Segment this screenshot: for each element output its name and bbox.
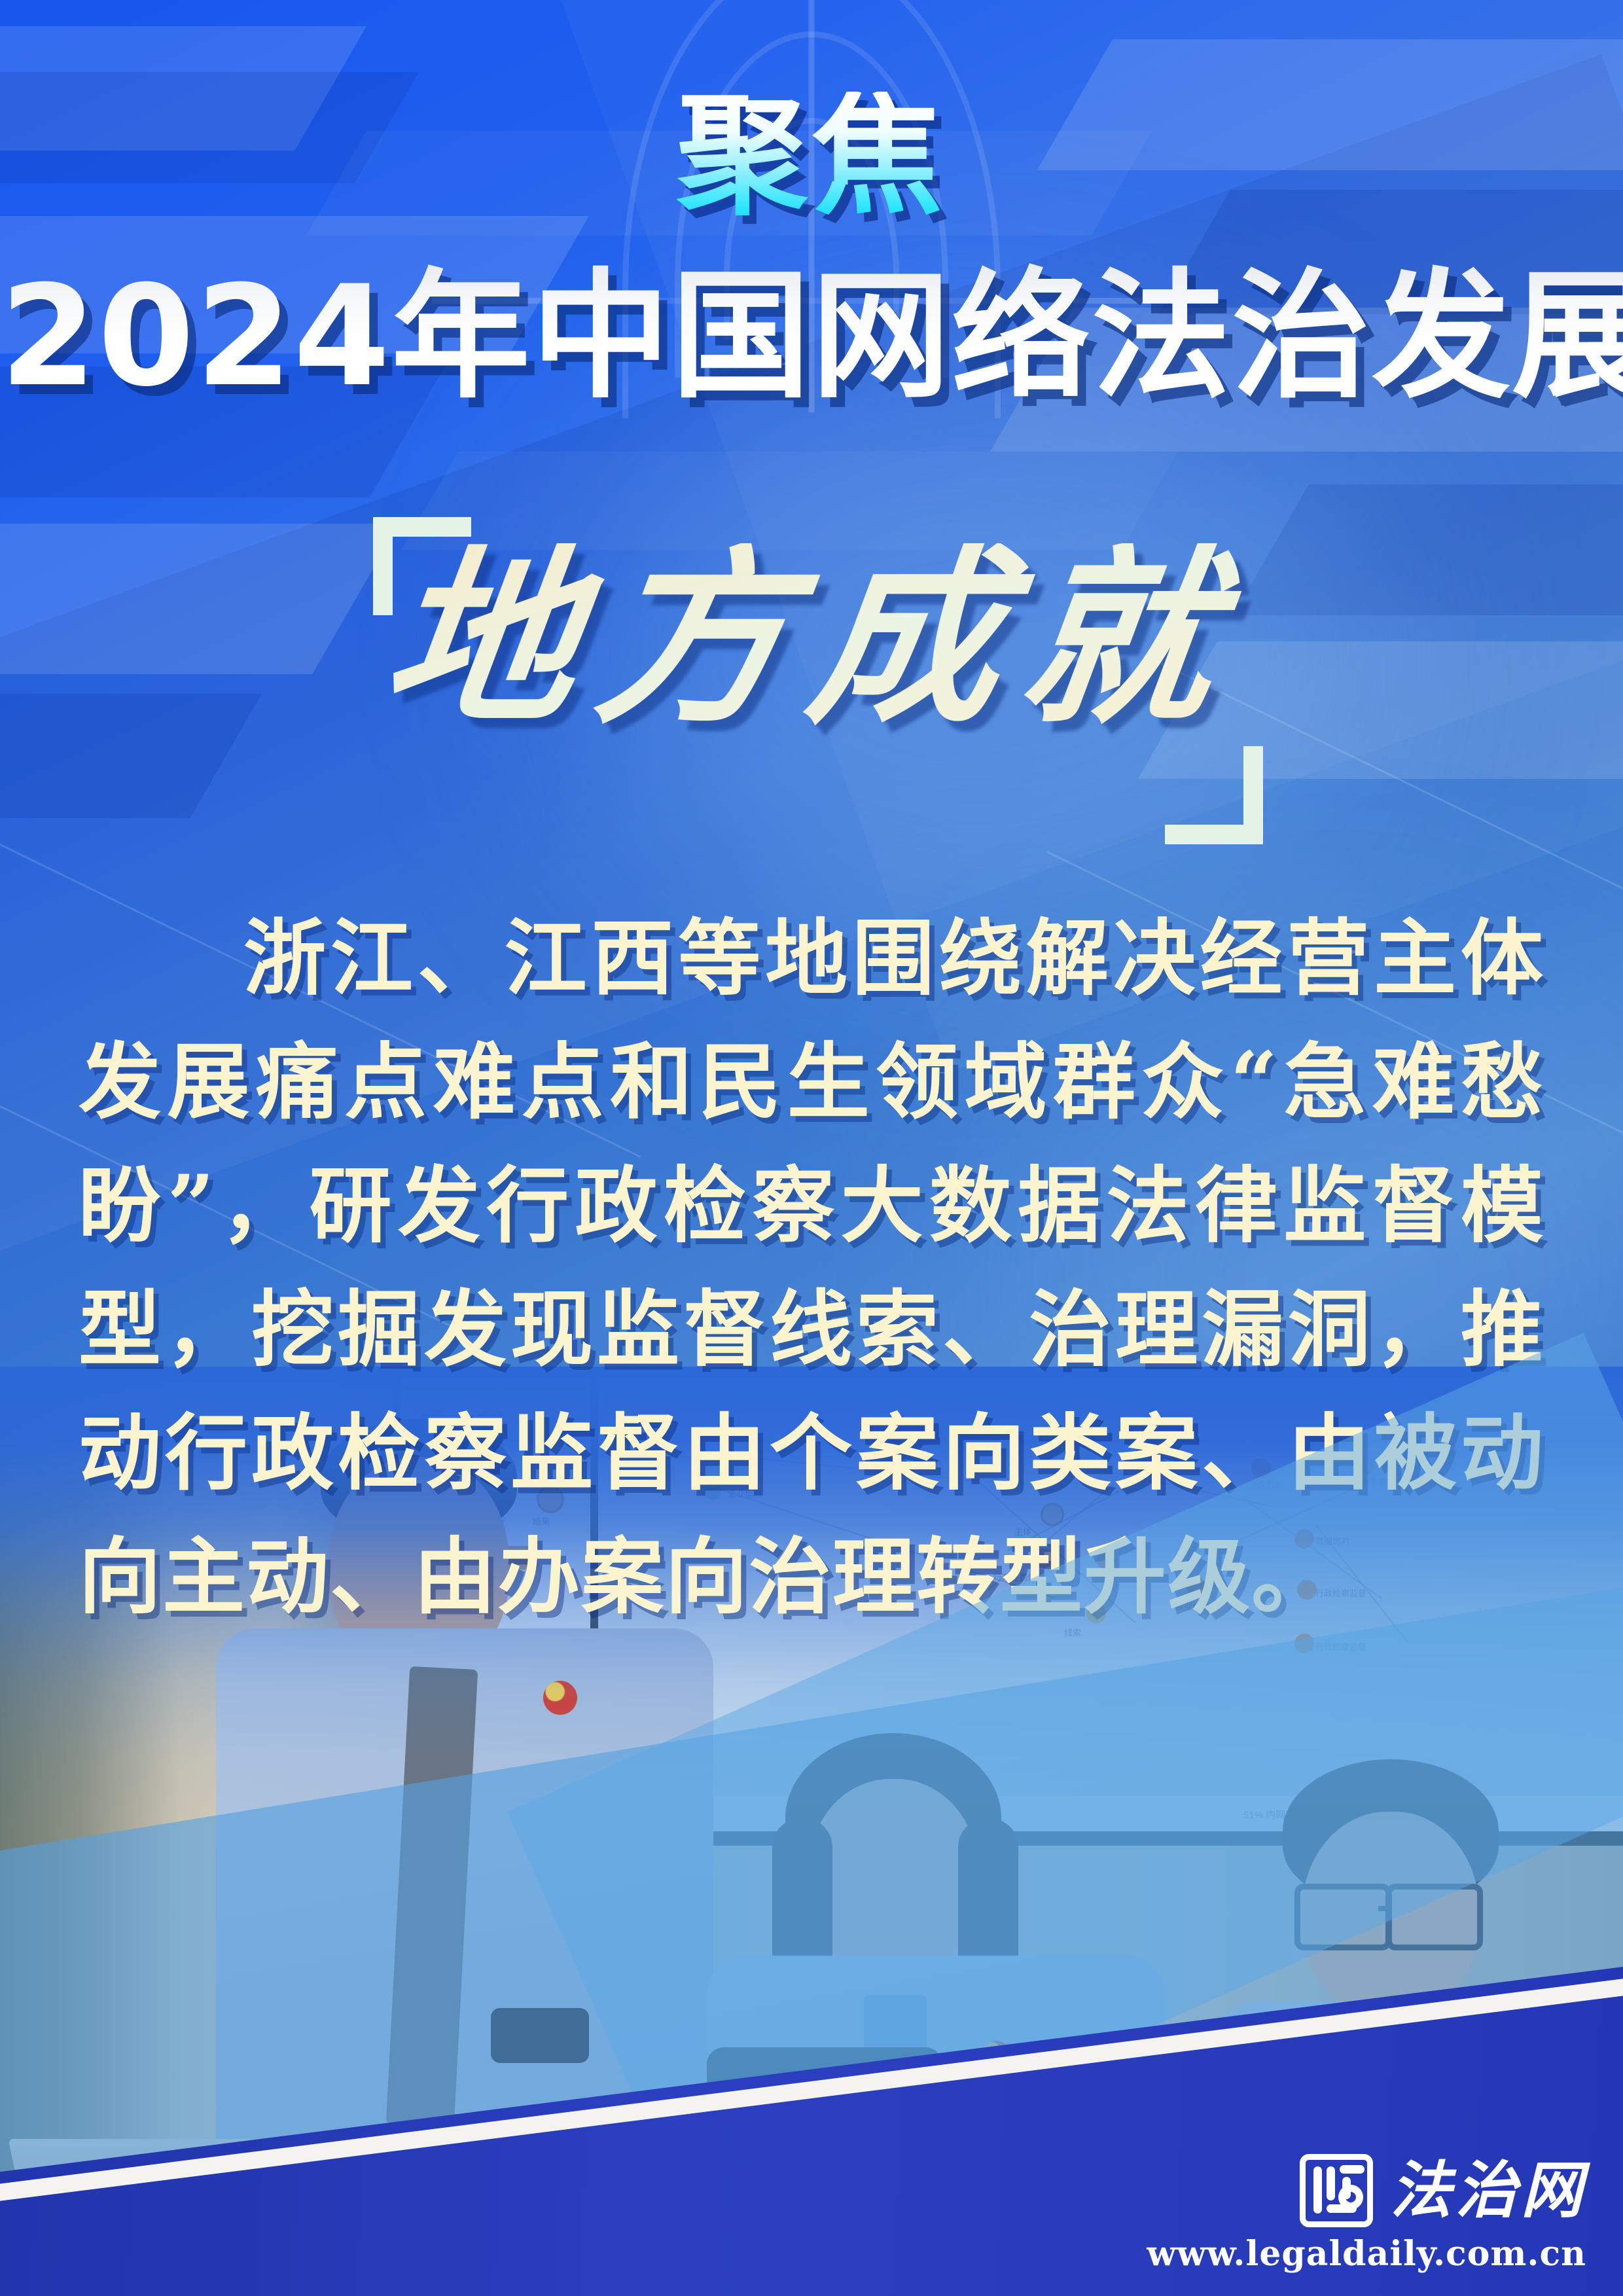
poster-root: 聚焦 2024年中国网络法治发展 地方成就 浙江、江西等地围绕解决经营主体发展痛… xyxy=(0,0,1623,2296)
legal-daily-seal-icon xyxy=(1300,2154,1373,2227)
page-title: 2024年中国网络法治发展 xyxy=(0,262,1623,412)
main-title-text: 2024年中国网络法治发展 xyxy=(0,262,1623,412)
footer-logo[interactable]: 法治网 www.legaldaily.com.cn xyxy=(1147,2154,1586,2274)
subtitle-block: 地方成就 xyxy=(0,504,1623,910)
corner-bracket-bottom-right-icon xyxy=(1165,746,1263,844)
calligraphy-subtitle: 地方成就 xyxy=(0,543,1623,733)
focus-badge-label: 聚焦 xyxy=(677,92,946,223)
logo-url: www.legaldaily.com.cn xyxy=(1147,2234,1586,2274)
focus-badge: 聚焦 xyxy=(0,92,1623,223)
logo-name: 法治网 xyxy=(1390,2160,1586,2221)
